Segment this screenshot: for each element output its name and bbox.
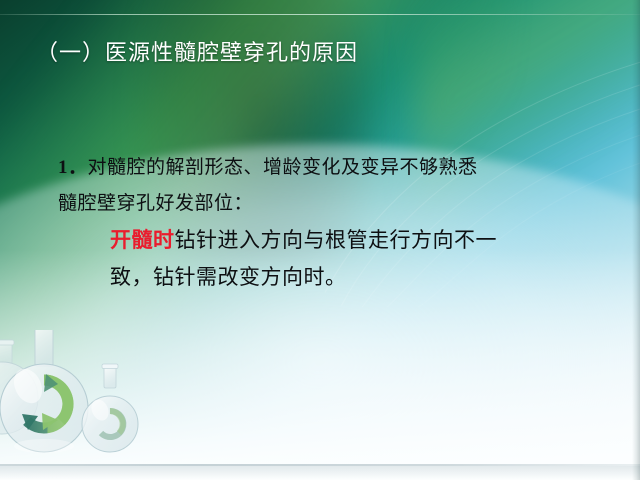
body-line-3: 开髓时钻针进入方向与根管走行方向不一 xyxy=(58,222,618,259)
slide-right-edge xyxy=(632,0,640,480)
slide-body: 1．对髓腔的解剖形态、增龄变化及变异不够熟悉 髓腔壁穿孔好发部位： 开髓时钻针进… xyxy=(58,150,618,296)
body-line-3-text: 钻针进入方向与根管走行方向不一 xyxy=(175,228,498,252)
body-line-1-number: 1． xyxy=(58,157,88,178)
highlighted-term: 开髓时 xyxy=(110,228,175,252)
presentation-slide: （一）医源性髓腔壁穿孔的原因 1．对髓腔的解剖形态、增龄变化及变异不够熟悉 髓腔… xyxy=(0,0,640,480)
body-line-1: 1．对髓腔的解剖形态、增龄变化及变异不够熟悉 xyxy=(58,150,618,186)
header-separator-line xyxy=(0,14,640,15)
table-surface-shadow xyxy=(0,466,640,480)
body-line-2: 髓腔壁穿孔好发部位： xyxy=(58,186,618,222)
flask-artwork xyxy=(0,330,190,470)
body-line-4: 致，钻针需改变方向时。 xyxy=(58,259,618,296)
body-line-1-text: 对髓腔的解剖形态、增龄变化及变异不够熟悉 xyxy=(88,157,478,178)
slide-title: （一）医源性髓腔壁穿孔的原因 xyxy=(36,38,358,68)
